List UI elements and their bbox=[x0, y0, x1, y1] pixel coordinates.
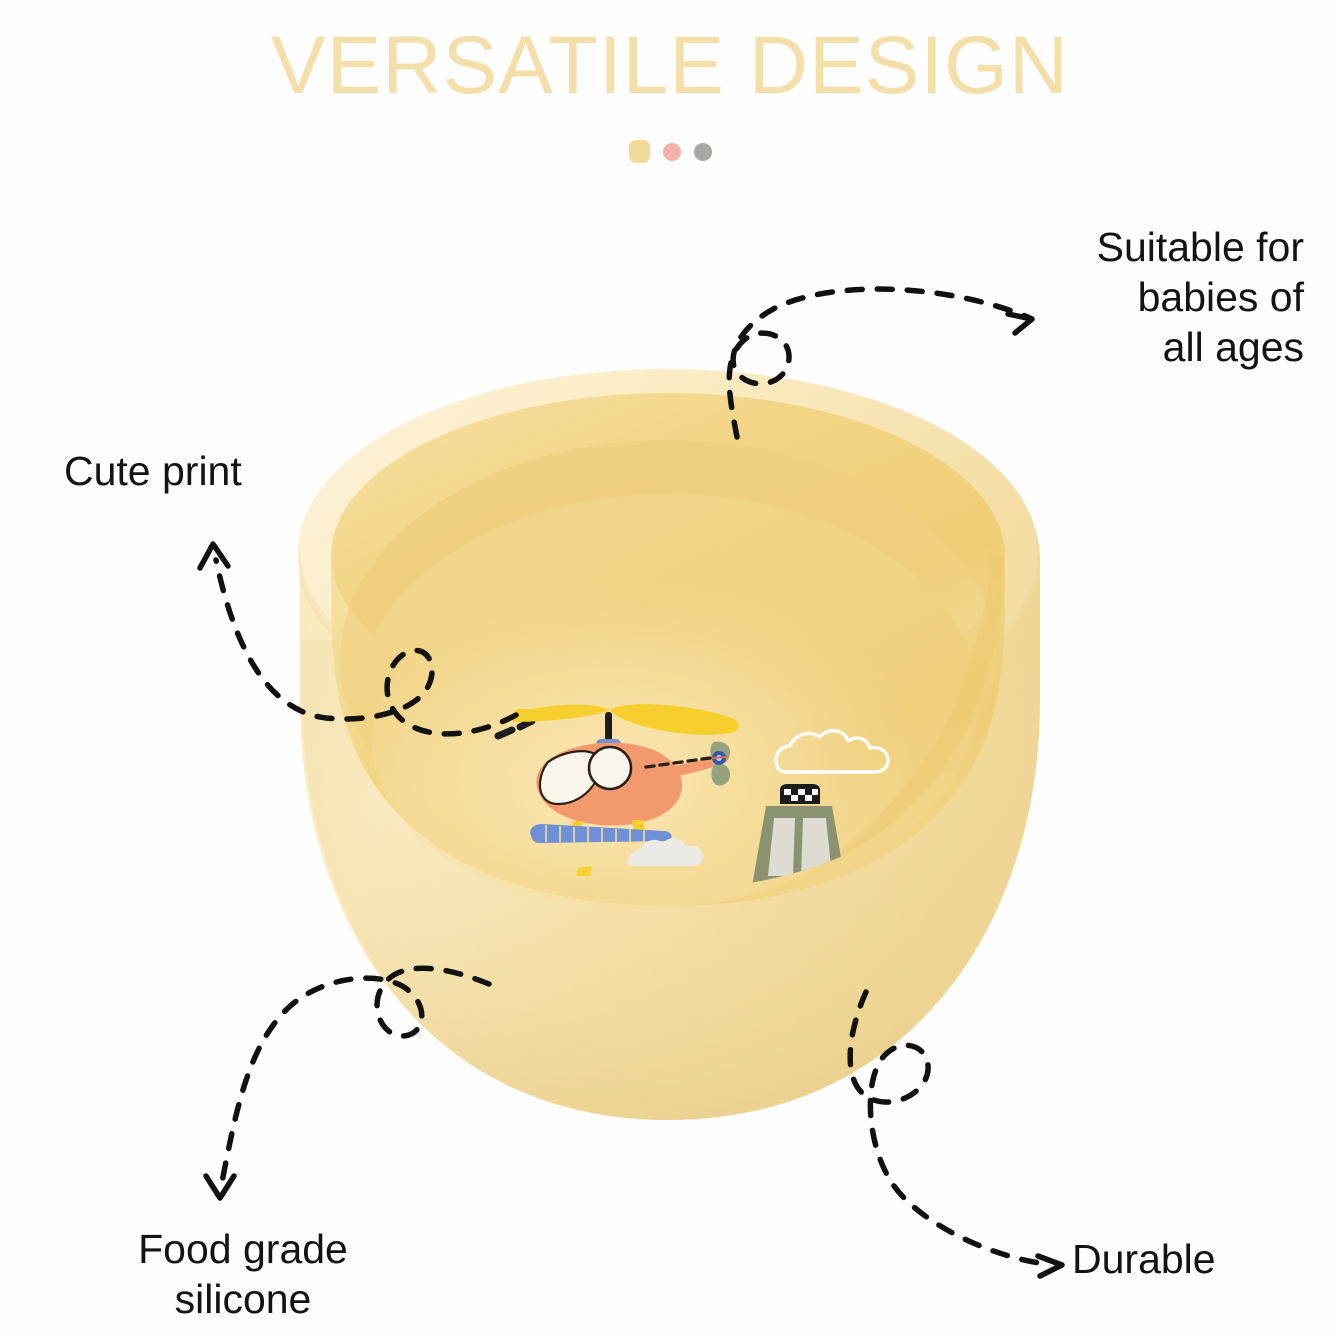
dash-trail-icon bbox=[498, 721, 532, 736]
cloud-outline-icon bbox=[776, 731, 888, 772]
tail-rotor-top bbox=[710, 742, 730, 764]
page-title: VERSATILE DESIGN bbox=[0, 18, 1340, 114]
helicopter-skid-icon bbox=[530, 824, 671, 843]
connector-cute-print-icon bbox=[216, 560, 516, 734]
helicopter-icon bbox=[536, 742, 730, 826]
arrowhead-food-grade-icon bbox=[206, 1176, 234, 1198]
arrowhead-cute-print-icon bbox=[200, 544, 228, 568]
dot-yellow-icon[interactable] bbox=[629, 140, 650, 163]
bowl-rim bbox=[298, 369, 1038, 742]
callout-suitable-for-babies: Suitable for babies of all ages bbox=[1097, 222, 1304, 372]
connector-durable-icon bbox=[850, 992, 1046, 1264]
callout-food-grade-silicone: Food grade silicone bbox=[98, 1224, 388, 1324]
bowl-print-art bbox=[498, 704, 888, 886]
control-tower-icon bbox=[752, 784, 846, 886]
helicopter-mast-icon bbox=[605, 712, 612, 742]
color-swatch-dots bbox=[0, 140, 1340, 163]
connector-suitable-icon bbox=[729, 289, 1030, 437]
header: VERSATILE DESIGN bbox=[0, 0, 1340, 190]
helicopter-rotor-icon bbox=[513, 704, 739, 735]
helicopter-skid-legs-icon bbox=[570, 820, 646, 836]
bowl-interior bbox=[331, 393, 1005, 910]
dot-gray-icon[interactable] bbox=[694, 143, 712, 161]
connector-food-grade-icon bbox=[222, 968, 489, 1182]
print-speck-icon bbox=[576, 866, 592, 876]
arrowhead-suitable-icon bbox=[1008, 314, 1032, 333]
dot-pink-icon[interactable] bbox=[663, 143, 681, 161]
cloud-filled-icon bbox=[628, 838, 703, 866]
callout-cute-print: Cute print bbox=[64, 446, 242, 496]
helicopter-mast-hub-icon bbox=[596, 739, 621, 752]
product-illustration bbox=[0, 0, 1340, 1340]
arrowhead-durable-icon bbox=[1038, 1256, 1062, 1276]
callout-durable: Durable bbox=[1072, 1234, 1216, 1284]
bowl-body bbox=[300, 372, 1040, 1120]
tail-rotor-bottom bbox=[711, 764, 730, 786]
